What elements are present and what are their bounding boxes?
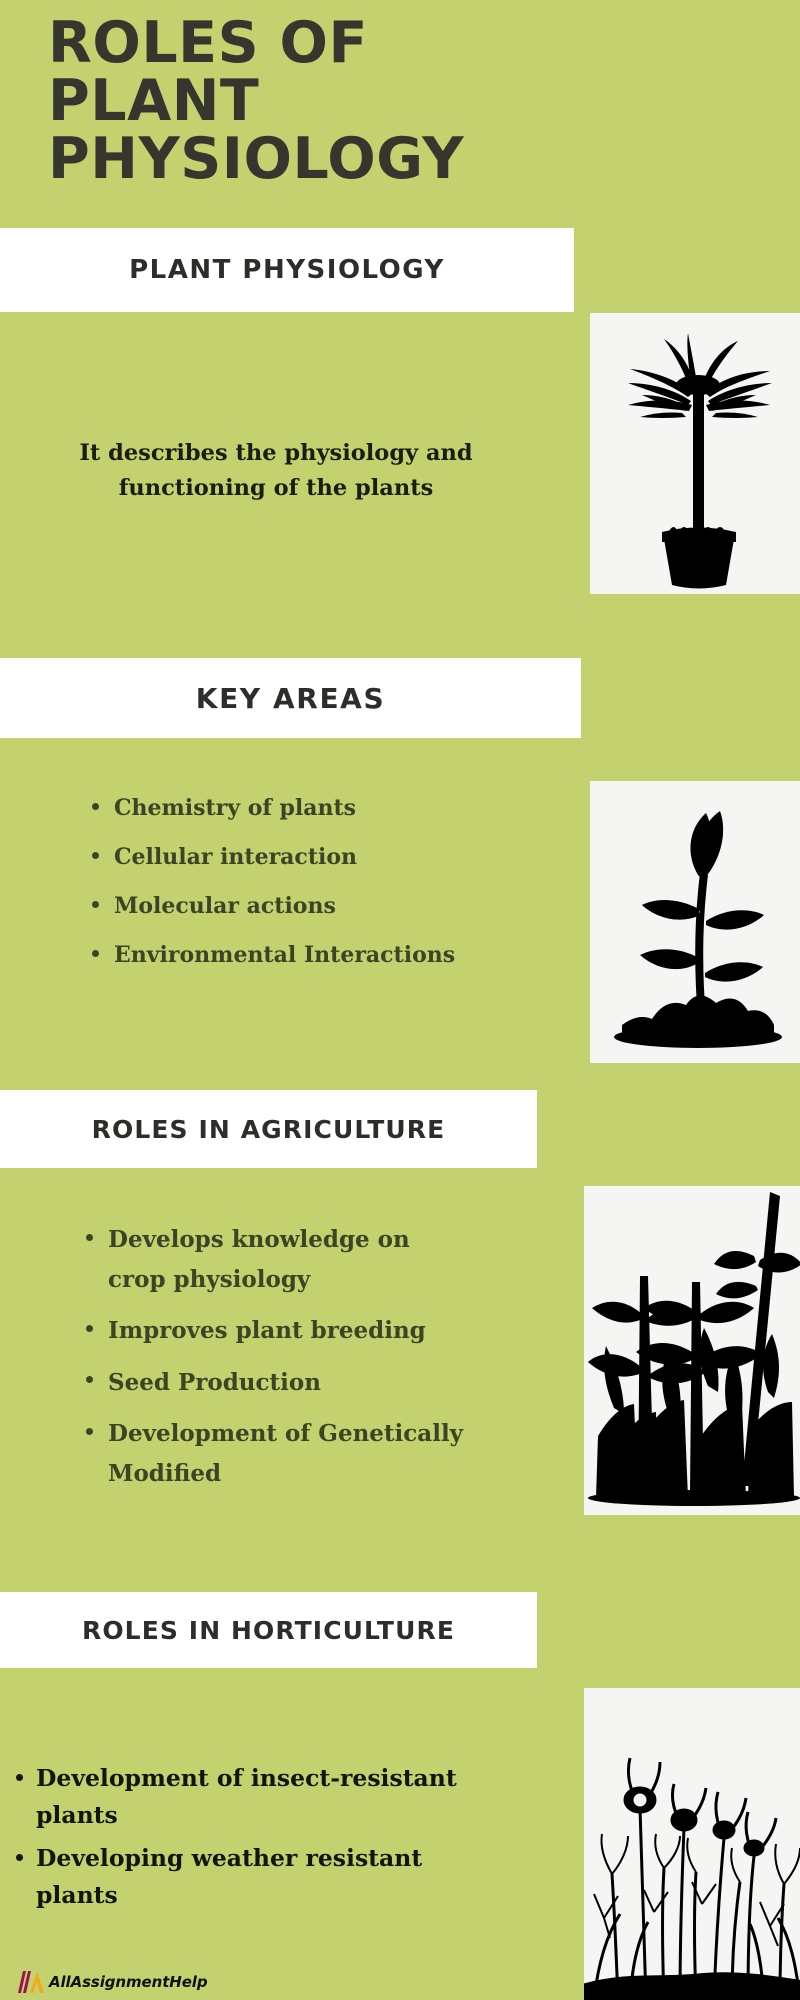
horticulture-list: Development of insect-resistant plants D… [12, 1760, 482, 1921]
agriculture-list: Develops knowledge on crop physiology Im… [82, 1220, 472, 1505]
brand-name: AllAssignmentHelp [49, 1973, 207, 1991]
seedling-image [590, 781, 800, 1063]
section-header-label: KEY AREAS [196, 682, 385, 715]
list-item: Development of insect-resistant plants [12, 1760, 482, 1834]
list-item: Develops knowledge on crop physiology [82, 1220, 472, 1299]
section-header-plant-physiology: PLANT PHYSIOLOGY [0, 228, 574, 312]
key-areas-list: Chemistry of plants Cellular interaction… [88, 790, 468, 986]
allassignmenthelp-logo-icon [18, 1971, 44, 1993]
section-header-label: ROLES IN HORTICULTURE [82, 1616, 455, 1645]
corn-field-silhouette-icon [584, 1186, 800, 1515]
infographic-poster: ROLES OF PLANT PHYSIOLOGY PLANT PHYSIOLO… [0, 0, 800, 2000]
section-header-label: PLANT PHYSIOLOGY [129, 255, 445, 285]
list-item: Environmental Interactions [88, 937, 468, 974]
list-item: Cellular interaction [88, 839, 468, 876]
plant-physiology-description: It describes the physiology and function… [36, 436, 516, 506]
list-item: Chemistry of plants [88, 790, 468, 827]
wildflowers-silhouette-icon [584, 1688, 800, 2000]
wildflowers-image [584, 1688, 800, 2000]
corn-field-image [584, 1186, 800, 1515]
section-header-label: ROLES IN AGRICULTURE [92, 1115, 446, 1144]
list-item: Seed Production [82, 1363, 472, 1403]
footer-brand-logo[interactable]: AllAssignmentHelp [18, 1971, 207, 1993]
list-item: Improves plant breeding [82, 1311, 472, 1351]
seedling-silhouette-icon [590, 781, 800, 1063]
list-item: Developing weather resistant plants [12, 1840, 482, 1914]
page-title: ROLES OF PLANT PHYSIOLOGY [48, 14, 568, 188]
potted-plant-image [590, 313, 800, 594]
title-line-2: PLANT [48, 72, 568, 130]
section-header-key-areas: KEY AREAS [0, 658, 581, 738]
list-item: Development of Genetically Modified [82, 1414, 472, 1493]
potted-plant-silhouette-icon [590, 313, 800, 594]
title-line-1: ROLES OF [48, 14, 568, 72]
section-header-horticulture: ROLES IN HORTICULTURE [0, 1592, 537, 1668]
section-header-agriculture: ROLES IN AGRICULTURE [0, 1090, 537, 1168]
title-line-3: PHYSIOLOGY [48, 130, 568, 188]
list-item: Molecular actions [88, 888, 468, 925]
